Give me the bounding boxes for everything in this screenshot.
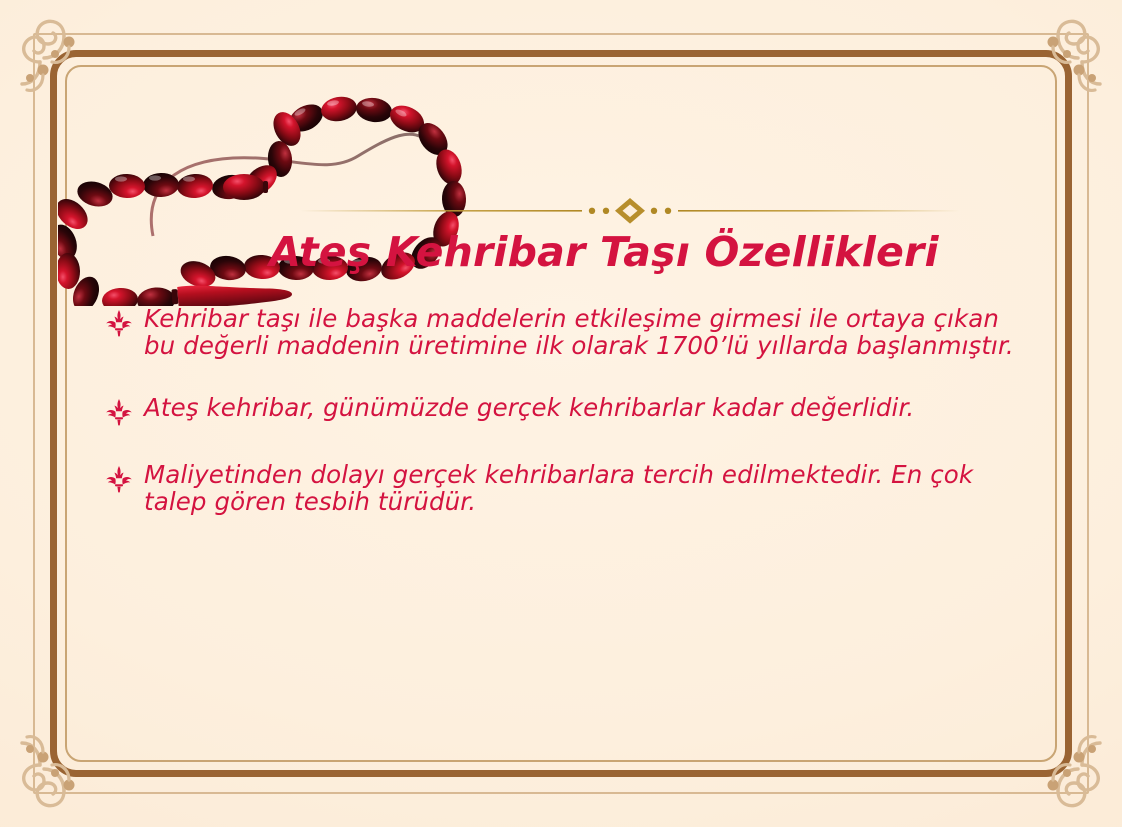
feature-bullet-list: Kehribar taşı ile başka maddelerin etkil… — [104, 305, 1034, 550]
list-item-text: Kehribar taşı ile başka maddelerin etkil… — [144, 305, 1034, 360]
ornamental-divider — [300, 198, 960, 224]
list-item: Ateş kehribar, günümüzde gerçek kehribar… — [104, 394, 1034, 427]
list-item-text: Ateş kehribar, günümüzde gerçek kehribar… — [144, 394, 1034, 421]
list-item: Kehribar taşı ile başka maddelerin etkil… — [104, 305, 1034, 360]
fleur-de-lis-icon — [104, 308, 134, 338]
page-title: Ateş Kehribar Taşı Özellikleri — [0, 228, 1122, 276]
infographic-card: Ateş Kehribar Taşı Özellikleri Kehribar … — [0, 0, 1122, 827]
fleur-de-lis-icon — [104, 397, 134, 427]
fleur-de-lis-icon — [104, 464, 134, 494]
list-item-text: Maliyetinden dolayı gerçek kehribarlara … — [144, 461, 1034, 516]
list-item: Maliyetinden dolayı gerçek kehribarlara … — [104, 461, 1034, 516]
